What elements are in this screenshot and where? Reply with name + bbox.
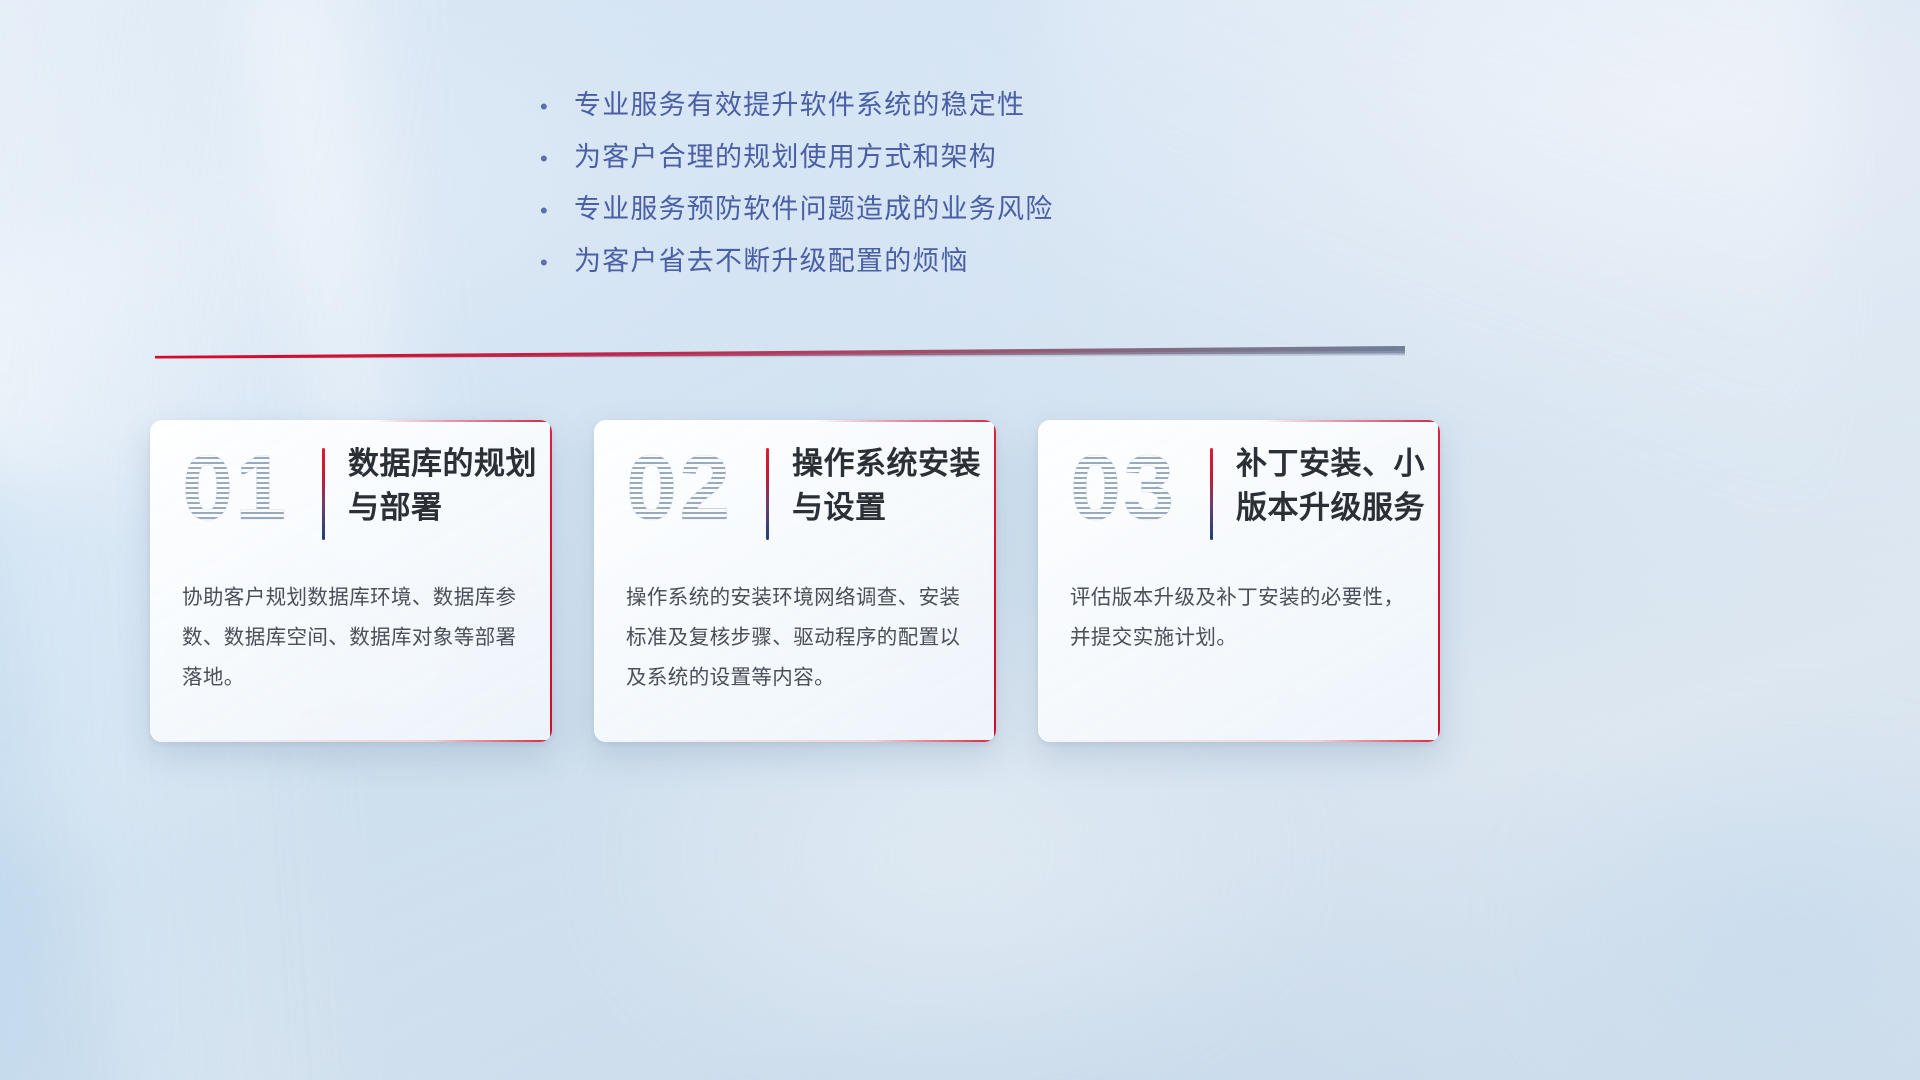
card-number-watermark: 03 [1070,442,1176,534]
benefits-bullet-list: • 专业服务有效提升软件系统的稳定性 • 为客户合理的规划使用方式和架构 • 专… [540,92,1053,300]
card-bottom-edge [150,740,552,742]
card-accent-bar [322,448,325,540]
list-item-label: 为客户合理的规划使用方式和架构 [574,144,997,171]
service-card[interactable]: 02 02 操作系统安装与设置 操作系统的安装环境网络调查、安装标准及复核步骤、… [594,420,996,742]
list-item: • 专业服务预防软件问题造成的业务风险 [540,196,1053,248]
light-beam [1382,670,1920,1080]
card-body-text: 评估版本升级及补丁安装的必要性，并提交实施计划。 [1070,578,1414,658]
bullet-dot-icon: • [540,200,574,222]
service-card[interactable]: 01 01 数据库的规划与部署 协助客户规划数据库环境、数据库参数、数据库空间、… [150,420,552,742]
section-divider [155,346,1405,362]
service-card-group: 01 01 数据库的规划与部署 协助客户规划数据库环境、数据库参数、数据库空间、… [150,420,1440,742]
service-card[interactable]: 03 03 补丁安装、小版本升级服务 评估版本升级及补丁安装的必要性，并提交实施… [1038,420,1440,742]
list-item-label: 专业服务有效提升软件系统的稳定性 [574,92,1025,119]
bullet-dot-icon: • [540,148,574,170]
card-accent-bar [1210,448,1213,540]
card-title: 数据库的规划与部署 [348,442,538,530]
card-number-watermark: 01 [182,442,288,534]
card-number-watermark: 02 [626,442,732,534]
list-item: • 为客户合理的规划使用方式和架构 [540,144,1053,196]
card-title: 操作系统安装与设置 [792,442,982,530]
list-item-label: 为客户省去不断升级配置的烦恼 [574,248,969,275]
card-body-text: 协助客户规划数据库环境、数据库参数、数据库空间、数据库对象等部署落地。 [182,578,526,698]
bullet-dot-icon: • [540,96,574,118]
card-bottom-edge [1038,740,1440,742]
list-item-label: 专业服务预防软件问题造成的业务风险 [574,196,1053,223]
card-header: 02 02 操作系统安装与设置 [594,420,996,570]
card-header: 01 01 数据库的规划与部署 [150,420,552,570]
card-body-text: 操作系统的安装环境网络调查、安装标准及复核步骤、驱动程序的配置以及系统的设置等内… [626,578,970,698]
card-title: 补丁安装、小版本升级服务 [1236,442,1426,530]
list-item: • 专业服务有效提升软件系统的稳定性 [540,92,1053,144]
card-bottom-edge [594,740,996,742]
card-header: 03 03 补丁安装、小版本升级服务 [1038,420,1440,570]
card-accent-bar [766,448,769,540]
bullet-dot-icon: • [540,252,574,274]
list-item: • 为客户省去不断升级配置的烦恼 [540,248,1053,300]
